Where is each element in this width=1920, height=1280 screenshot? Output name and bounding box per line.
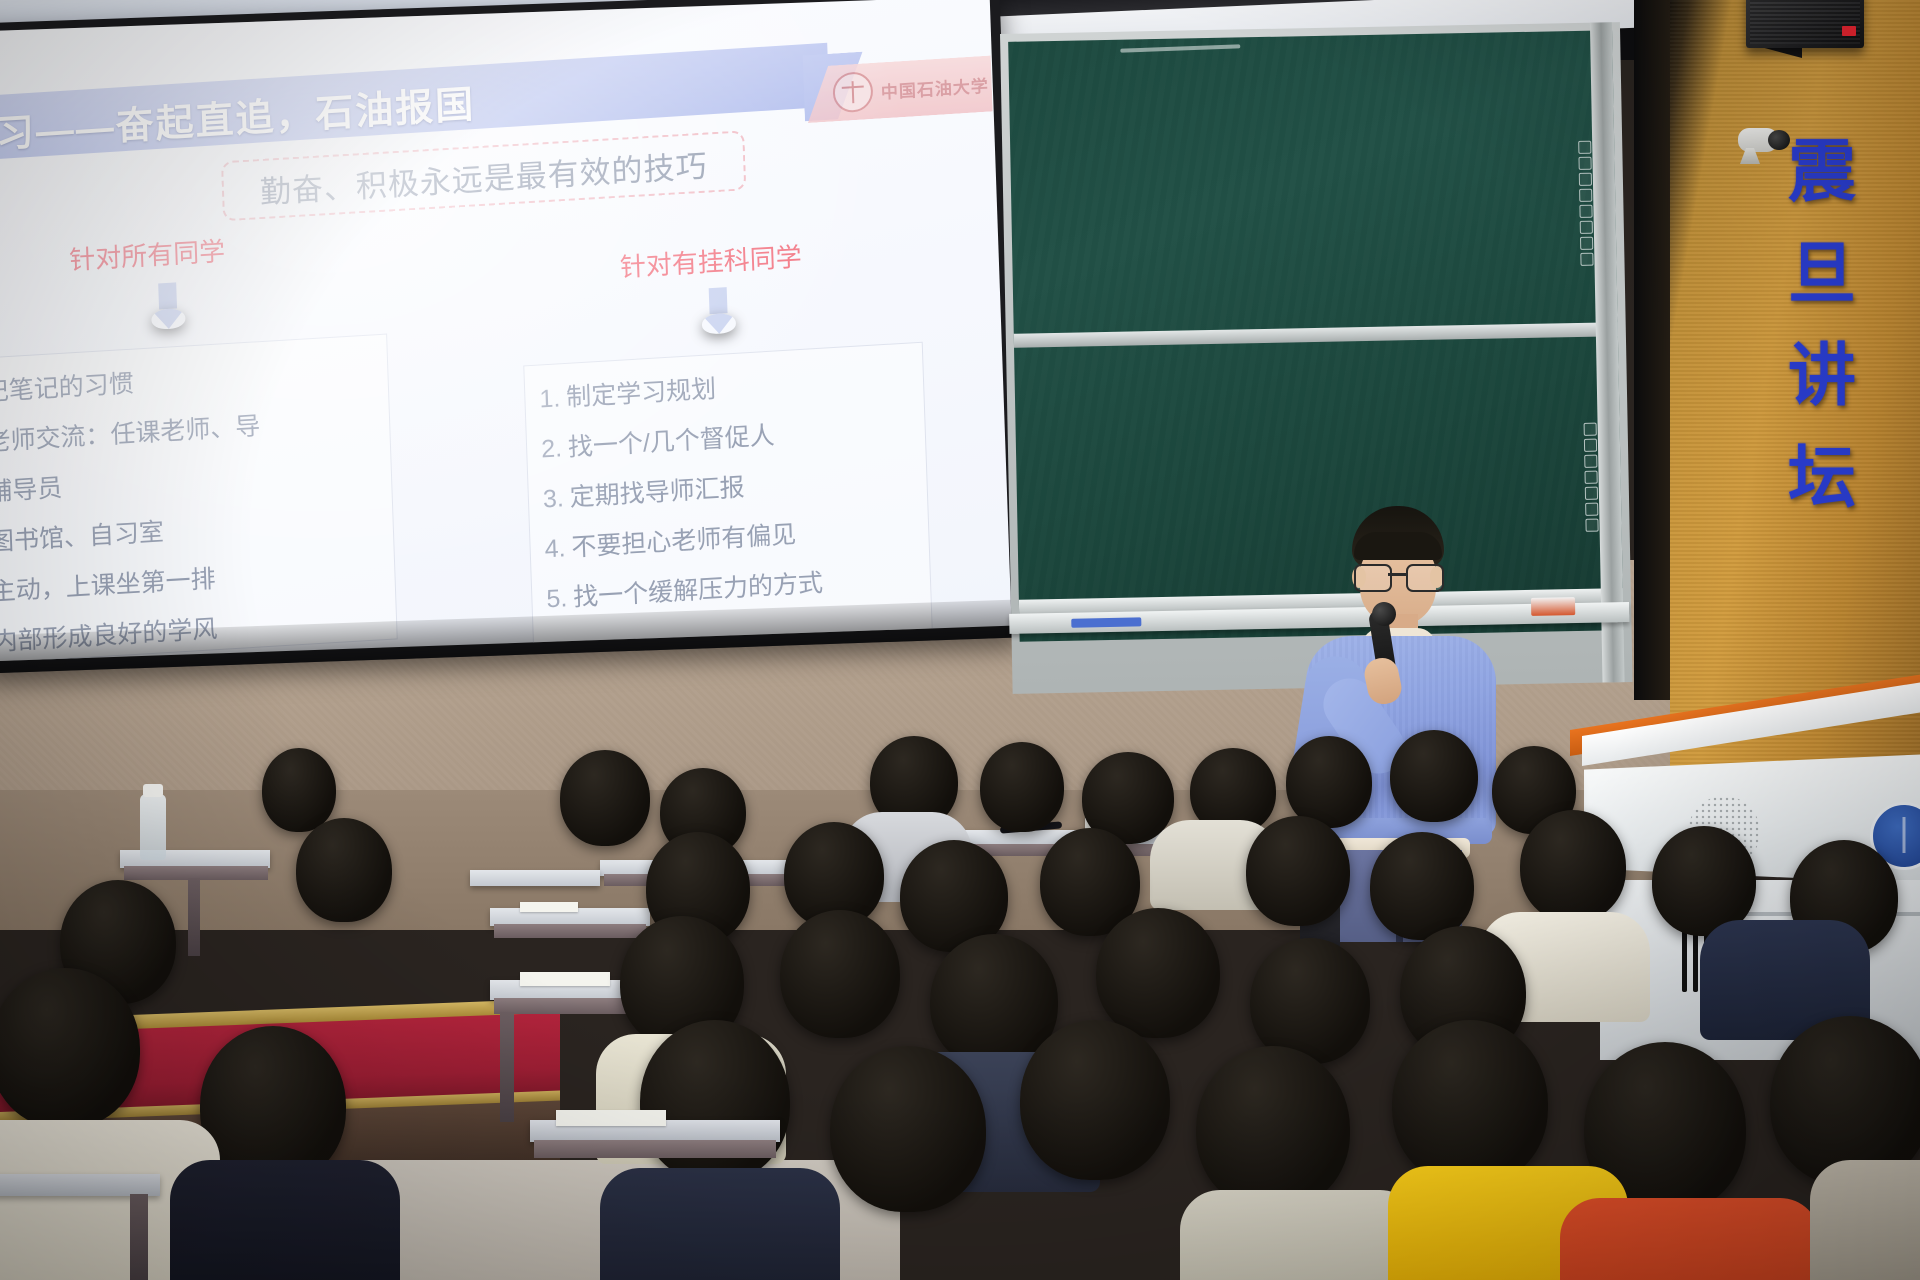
list-item: 多去图书馆、自习室	[0, 507, 377, 558]
audience-head	[830, 1046, 986, 1212]
slide-subtitle: 勤奋、积极永远是最有效的技巧	[259, 140, 708, 212]
list-item-number: 5.	[546, 584, 568, 613]
list-item: 3.定期找导师汇报	[543, 466, 911, 513]
arrow-down-icon-left	[150, 282, 185, 310]
audience-body	[1810, 1160, 1920, 1280]
calligraphy-char: 旦	[1788, 240, 1856, 308]
audience-head	[1370, 832, 1474, 940]
rail-label-icon	[1578, 141, 1591, 154]
list-item: 4.不要担心老师有偏见	[544, 516, 912, 563]
wall-seam-shadow	[1634, 0, 1670, 700]
desk-edge	[534, 1140, 776, 1158]
audience-head	[0, 968, 140, 1128]
audience-head	[262, 748, 336, 832]
audience-head	[1286, 736, 1372, 828]
audience-head	[1520, 810, 1626, 922]
rail-label-icon	[1584, 423, 1597, 436]
university-name: 中国石油大学	[880, 71, 989, 103]
paper	[520, 902, 578, 912]
calligraphy-char: 坛	[1788, 444, 1856, 512]
list-item-number: 3.	[542, 484, 564, 513]
blue-chalk-box	[1071, 617, 1141, 627]
list-item-number: 1.	[539, 384, 561, 413]
speaker-brand-mark	[1842, 26, 1856, 36]
audience-head	[1390, 730, 1478, 822]
paper	[520, 972, 610, 986]
audience-body	[1560, 1198, 1820, 1280]
list-item-text: 找一个/几个督促人	[568, 422, 776, 462]
audience	[0, 690, 1920, 1280]
list-item: 多与老师交流：任课老师、导	[0, 408, 374, 459]
rail-label-icon	[1579, 173, 1592, 186]
notebook	[556, 1110, 666, 1126]
bottle-cap	[143, 784, 163, 797]
desk-edge	[494, 924, 646, 938]
eyeglasses-icon	[1354, 564, 1446, 588]
audience-body	[600, 1168, 840, 1280]
rail-label-icon	[1579, 205, 1592, 218]
desk-leg	[130, 1194, 148, 1280]
list-item-text: 不要担心老师有偏见	[571, 521, 797, 562]
calligraphy-char: 讲	[1788, 342, 1856, 410]
list-item: 积极主动，上课坐第一排	[0, 557, 379, 608]
left-column-heading: 针对所有同学	[69, 231, 226, 277]
audience-head	[560, 750, 650, 846]
rail-label-icon	[1580, 221, 1593, 234]
rail-label-icon	[1580, 237, 1593, 250]
projection-screen: 业学习——奋起直追，石油报国 中国石油大学 勤奋、积极永远是最有效的技巧 针对所…	[0, 0, 1022, 674]
wall-calligraphy: 震 旦 讲 坛	[1776, 138, 1868, 512]
audience-body	[1180, 1190, 1420, 1280]
list-item-text: 制定学习规划	[566, 375, 717, 412]
arrow-down-icon-right	[701, 287, 736, 315]
water-bottle	[140, 794, 166, 860]
rail-label-icon	[1584, 455, 1597, 468]
lecture-hall-photo: 业学习——奋起直追，石油报国 中国石油大学 勤奋、积极永远是最有效的技巧 针对所…	[0, 0, 1920, 1280]
list-item: 师、辅导员	[0, 457, 375, 508]
list-item: 2.找一个/几个督促人	[541, 416, 909, 463]
wall-speaker-icon	[1746, 0, 1864, 48]
desk	[0, 1174, 160, 1196]
rail-label-icon	[1579, 189, 1592, 202]
rail-label-icon	[1585, 487, 1598, 500]
audience-head	[1020, 1020, 1170, 1180]
university-seal-icon	[832, 71, 873, 113]
rail-label-icon	[1584, 439, 1597, 452]
rail-label-icon	[1584, 471, 1597, 484]
list-item-number: 4.	[544, 534, 566, 563]
chalkboard-eraser	[1531, 597, 1575, 616]
audience-head	[780, 910, 900, 1038]
rail-label-icon	[1580, 253, 1593, 266]
list-item-text: 找一个缓解压力的方式	[573, 569, 824, 612]
desk-leg	[188, 878, 200, 956]
desk-leg	[500, 1012, 514, 1122]
audience-head	[1096, 908, 1220, 1038]
presenter-fringe	[1354, 532, 1442, 560]
audience-body	[170, 1160, 400, 1280]
list-item: 1.制定学习规划	[539, 366, 907, 413]
list-item-text: 定期找导师汇报	[569, 473, 745, 511]
audience-head	[1392, 1020, 1548, 1186]
university-logo: 中国石油大学	[806, 55, 993, 123]
calligraphy-char: 震	[1788, 138, 1856, 206]
desk	[470, 870, 600, 886]
rail-label-icon	[1578, 157, 1591, 170]
list-item: 养成记笔记的习惯	[0, 358, 372, 409]
audience-head	[980, 742, 1064, 832]
rail-label-icon	[1585, 503, 1598, 516]
audience-head	[1196, 1046, 1350, 1210]
slide-subtitle-box: 勤奋、积极永远是最有效的技巧	[221, 130, 746, 221]
list-item-number: 2.	[541, 434, 563, 463]
left-column-list: 养成记笔记的习惯 多与老师交流：任课老师、导 师、辅导员 多去图书馆、自习室 积…	[0, 334, 398, 662]
presentation-slide: 业学习——奋起直追，石油报国 中国石油大学 勤奋、积极永远是最有效的技巧 针对所…	[0, 0, 1012, 661]
audience-head	[296, 818, 392, 922]
audience-head	[1250, 938, 1370, 1064]
rail-label-icon	[1585, 519, 1598, 532]
audience-head	[1246, 816, 1350, 926]
right-column-heading: 针对有挂科同学	[619, 237, 802, 285]
